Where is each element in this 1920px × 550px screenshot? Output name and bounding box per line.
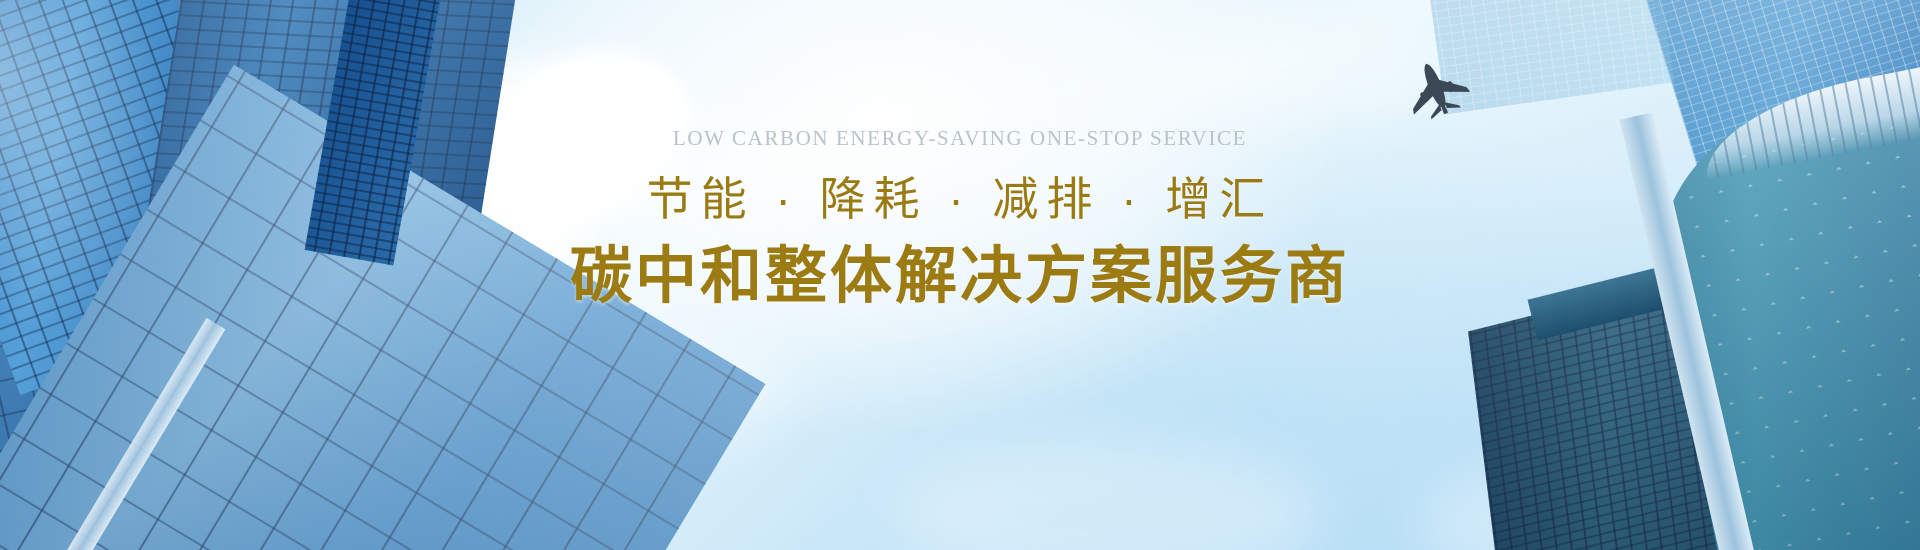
hero-eyebrow-text: LOW CARBON ENERGY-SAVING ONE-STOP SERVIC… [0, 128, 1920, 149]
hero-headline-text: 碳中和整体解决方案服务商 [0, 246, 1920, 308]
hero-text-block: LOW CARBON ENERGY-SAVING ONE-STOP SERVIC… [0, 128, 1920, 308]
hero-subtitle-text: 节能 · 降耗 · 减排 · 增汇 [0, 176, 1920, 222]
hero-banner: LOW CARBON ENERGY-SAVING ONE-STOP SERVIC… [0, 0, 1920, 550]
